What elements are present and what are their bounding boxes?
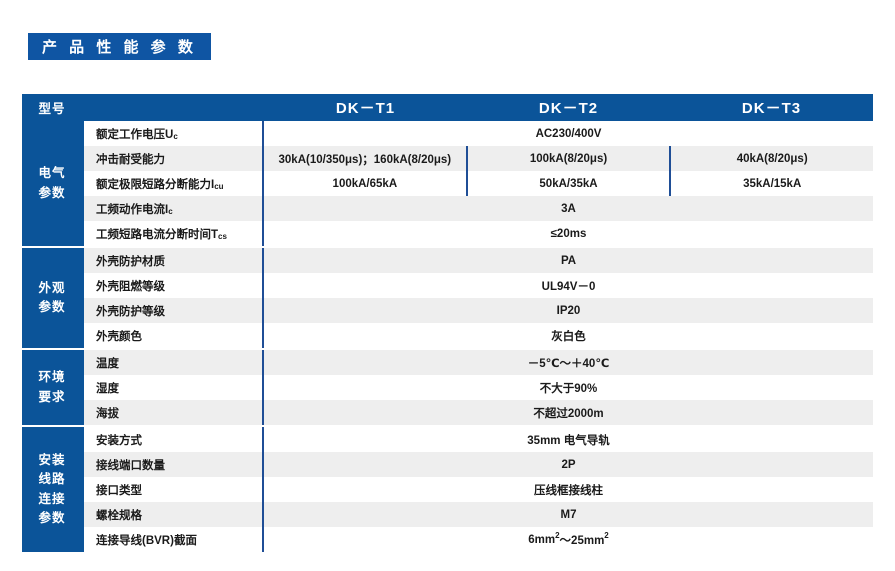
spec-group-rows: 安装方式35mm 电气导轨接线端口数量2P接口类型压线框接线柱螺栓规格M7连接导… [82, 427, 873, 552]
table-row: 工频动作电流Ic3A [84, 196, 873, 221]
header-column-dk-t1: DK－T1 [264, 94, 467, 121]
spec-group-label: 环境要求 [22, 350, 82, 425]
table-row: 外壳阻燃等级UL94V－0 [84, 273, 873, 298]
table-row: 连接导线(BVR)截面6mm2～25mm2 [84, 527, 873, 552]
header-column-dk-t2: DK－T2 [467, 94, 670, 121]
table-row: 外壳防护材质PA [84, 248, 873, 273]
row-value-all-models: 6mm2～25mm2 [264, 527, 873, 552]
row-value-all-models: 2P [264, 452, 873, 477]
row-values: 3A [264, 196, 873, 221]
row-value-model-1: 100kA/65kA [264, 171, 466, 196]
table-row: 工频短路电流分断时间Tcs≤20ms [84, 221, 873, 246]
table-row: 湿度不大于90% [84, 375, 873, 400]
header-spacer [82, 94, 264, 121]
row-values: 35mm 电气导轨 [264, 427, 873, 452]
row-value-model-3: 35kA/15kA [669, 171, 873, 196]
row-value-all-models: M7 [264, 502, 873, 527]
row-values: IP20 [264, 298, 873, 323]
row-value-all-models: 35mm 电气导轨 [264, 427, 873, 452]
table-body: 电气参数额定工作电压UcAC230/400V冲击耐受能力30kA(10/350μ… [22, 121, 873, 552]
row-value-all-models: AC230/400V [264, 121, 873, 146]
row-values: 2P [264, 452, 873, 477]
table-row: 额定工作电压UcAC230/400V [84, 121, 873, 146]
product-spec-table: 型号 DK－T1 DK－T2 DK－T3 电气参数额定工作电压UcAC230/4… [22, 94, 873, 552]
header-model-label: 型号 [22, 94, 82, 121]
row-values: UL94V－0 [264, 273, 873, 298]
row-value-all-models: ≤20ms [264, 221, 873, 246]
spec-group: 环境要求温度－5℃～＋40℃湿度不大于90%海拔不超过2000m [22, 350, 873, 427]
row-values: PA [264, 248, 873, 273]
spec-group-rows: 外壳防护材质PA外壳阻燃等级UL94V－0外壳防护等级IP20外壳颜色灰白色 [82, 248, 873, 348]
row-label: 连接导线(BVR)截面 [84, 527, 264, 552]
row-label: 接口类型 [84, 477, 264, 502]
spec-group: 安装线路连接参数安装方式35mm 电气导轨接线端口数量2P接口类型压线框接线柱螺… [22, 427, 873, 552]
table-row: 外壳防护等级IP20 [84, 298, 873, 323]
row-values: 30kA(10/350μs)；160kA(8/20μs)100kA(8/20μs… [264, 146, 873, 171]
section-title-banner: 产 品 性 能 参 数 [28, 33, 211, 60]
row-value-all-models: 灰白色 [264, 323, 873, 348]
row-value-all-models: IP20 [264, 298, 873, 323]
row-values: 不超过2000m [264, 400, 873, 425]
row-value-all-models: PA [264, 248, 873, 273]
row-label: 外壳防护等级 [84, 298, 264, 323]
table-row: 温度－5℃～＋40℃ [84, 350, 873, 375]
spec-group-label: 外观参数 [22, 248, 82, 348]
table-header-row: 型号 DK－T1 DK－T2 DK－T3 [22, 94, 873, 121]
row-value-all-models: －5℃～＋40℃ [264, 350, 873, 375]
row-value-all-models: 不大于90% [264, 375, 873, 400]
row-values: M7 [264, 502, 873, 527]
header-column-dk-t3: DK－T3 [670, 94, 873, 121]
spec-group: 电气参数额定工作电压UcAC230/400V冲击耐受能力30kA(10/350μ… [22, 121, 873, 248]
row-values: 6mm2～25mm2 [264, 527, 873, 552]
row-values: ≤20ms [264, 221, 873, 246]
row-label: 接线端口数量 [84, 452, 264, 477]
table-row: 额定极限短路分断能力Icu100kA/65kA50kA/35kA35kA/15k… [84, 171, 873, 196]
table-row: 安装方式35mm 电气导轨 [84, 427, 873, 452]
row-label: 额定极限短路分断能力Icu [84, 171, 264, 196]
row-label: 海拔 [84, 400, 264, 425]
table-row: 海拔不超过2000m [84, 400, 873, 425]
row-value-model-2: 50kA/35kA [466, 171, 670, 196]
row-label: 外壳颜色 [84, 323, 264, 348]
row-label: 螺栓规格 [84, 502, 264, 527]
table-row: 螺栓规格M7 [84, 502, 873, 527]
row-values: －5℃～＋40℃ [264, 350, 873, 375]
spec-group-label: 安装线路连接参数 [22, 427, 82, 552]
row-value-model-1: 30kA(10/350μs)；160kA(8/20μs) [264, 146, 466, 171]
row-values: AC230/400V [264, 121, 873, 146]
row-label: 外壳阻燃等级 [84, 273, 264, 298]
row-label: 外壳防护材质 [84, 248, 264, 273]
spec-group: 外观参数外壳防护材质PA外壳阻燃等级UL94V－0外壳防护等级IP20外壳颜色灰… [22, 248, 873, 350]
row-value-all-models: 压线框接线柱 [264, 477, 873, 502]
row-values: 灰白色 [264, 323, 873, 348]
row-values: 100kA/65kA50kA/35kA35kA/15kA [264, 171, 873, 196]
row-value-all-models: 不超过2000m [264, 400, 873, 425]
row-label: 安装方式 [84, 427, 264, 452]
row-value-model-2: 100kA(8/20μs) [466, 146, 670, 171]
row-label: 额定工作电压Uc [84, 121, 264, 146]
row-label: 湿度 [84, 375, 264, 400]
spec-group-rows: 额定工作电压UcAC230/400V冲击耐受能力30kA(10/350μs)；1… [82, 121, 873, 246]
row-label: 工频动作电流Ic [84, 196, 264, 221]
table-row: 冲击耐受能力30kA(10/350μs)；160kA(8/20μs)100kA(… [84, 146, 873, 171]
row-value-all-models: UL94V－0 [264, 273, 873, 298]
row-values: 不大于90% [264, 375, 873, 400]
row-value-model-3: 40kA(8/20μs) [669, 146, 873, 171]
table-row: 外壳颜色灰白色 [84, 323, 873, 348]
table-row: 接口类型压线框接线柱 [84, 477, 873, 502]
row-values: 压线框接线柱 [264, 477, 873, 502]
spec-group-rows: 温度－5℃～＋40℃湿度不大于90%海拔不超过2000m [82, 350, 873, 425]
row-value-all-models: 3A [264, 196, 873, 221]
table-row: 接线端口数量2P [84, 452, 873, 477]
row-label: 温度 [84, 350, 264, 375]
row-label: 工频短路电流分断时间Tcs [84, 221, 264, 246]
spec-group-label: 电气参数 [22, 121, 82, 246]
row-label: 冲击耐受能力 [84, 146, 264, 171]
